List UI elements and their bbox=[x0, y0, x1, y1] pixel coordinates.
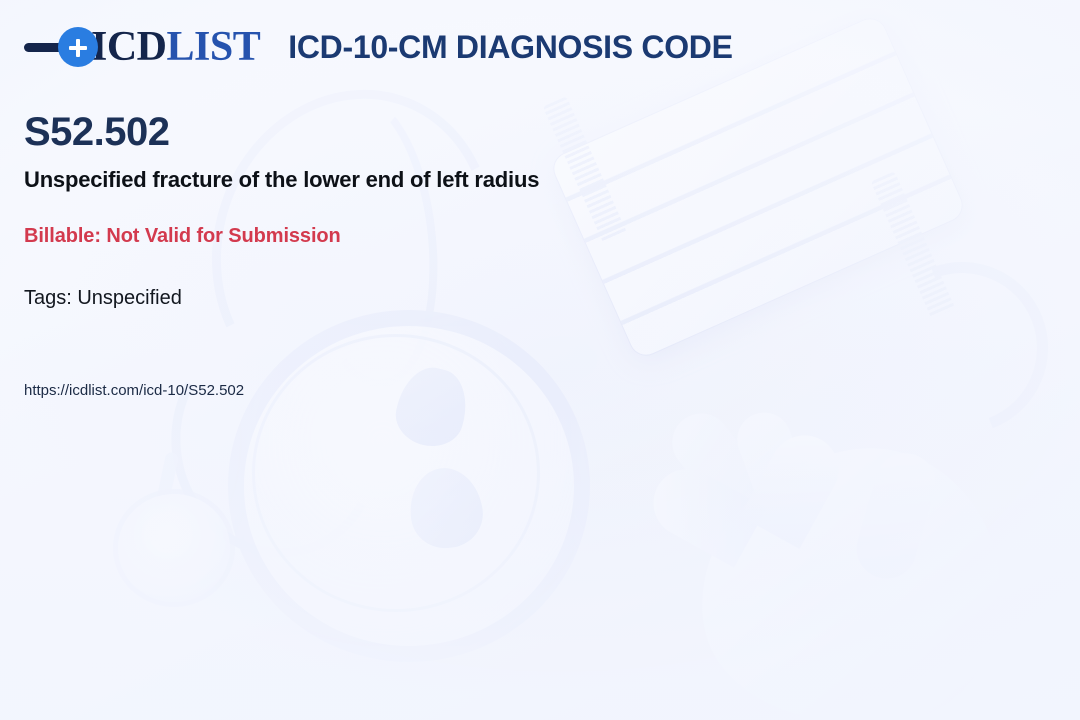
diagnosis-description: Unspecified fracture of the lower end of… bbox=[24, 166, 539, 194]
tags-label: Tags: Unspecified bbox=[24, 286, 182, 311]
header: ICDLIST ICD-10-CM DIAGNOSIS CODE bbox=[24, 26, 733, 68]
paper-heart-shape bbox=[672, 432, 835, 595]
hand-finger-three bbox=[850, 446, 943, 586]
stethoscope-tube-lower bbox=[148, 308, 405, 580]
billable-status: Billable: Not Valid for Submission bbox=[24, 224, 341, 249]
diagnosis-code-card: ICDLIST ICD-10-CM DIAGNOSIS CODE S52.502… bbox=[0, 0, 1080, 720]
logo-word-list: LIST bbox=[167, 24, 261, 70]
diagnosis-code: S52.502 bbox=[24, 112, 170, 152]
background-wash-overlay bbox=[0, 0, 1080, 720]
icdlist-logo[interactable]: ICDLIST bbox=[24, 26, 260, 68]
stethoscope-earpiece-lower bbox=[405, 463, 487, 552]
background-photo bbox=[0, 0, 1080, 720]
surgical-mask-ear-strap bbox=[848, 234, 1075, 461]
stethoscope-stem bbox=[154, 451, 180, 514]
logo-wordmark: ICDLIST bbox=[91, 26, 260, 68]
surgical-mask-left-edge bbox=[543, 96, 628, 244]
logo-word-icd: ICD bbox=[91, 24, 167, 70]
background-vignette-overlay bbox=[0, 0, 1080, 720]
hand-palm bbox=[678, 428, 1021, 720]
plus-icon bbox=[58, 27, 98, 67]
source-url[interactable]: https://icdlist.com/icd-10/S52.502 bbox=[24, 382, 244, 401]
hand-finger-one bbox=[661, 402, 798, 554]
stethoscope-chest-piece bbox=[118, 494, 230, 602]
stethoscope-ring-inner bbox=[252, 334, 540, 612]
hand-finger-two bbox=[730, 405, 829, 555]
page-title: ICD-10-CM DIAGNOSIS CODE bbox=[288, 29, 732, 66]
stethoscope-earpiece-upper bbox=[390, 361, 475, 453]
surgical-mask-right-edge bbox=[871, 171, 956, 319]
stethoscope-ring bbox=[228, 310, 590, 662]
